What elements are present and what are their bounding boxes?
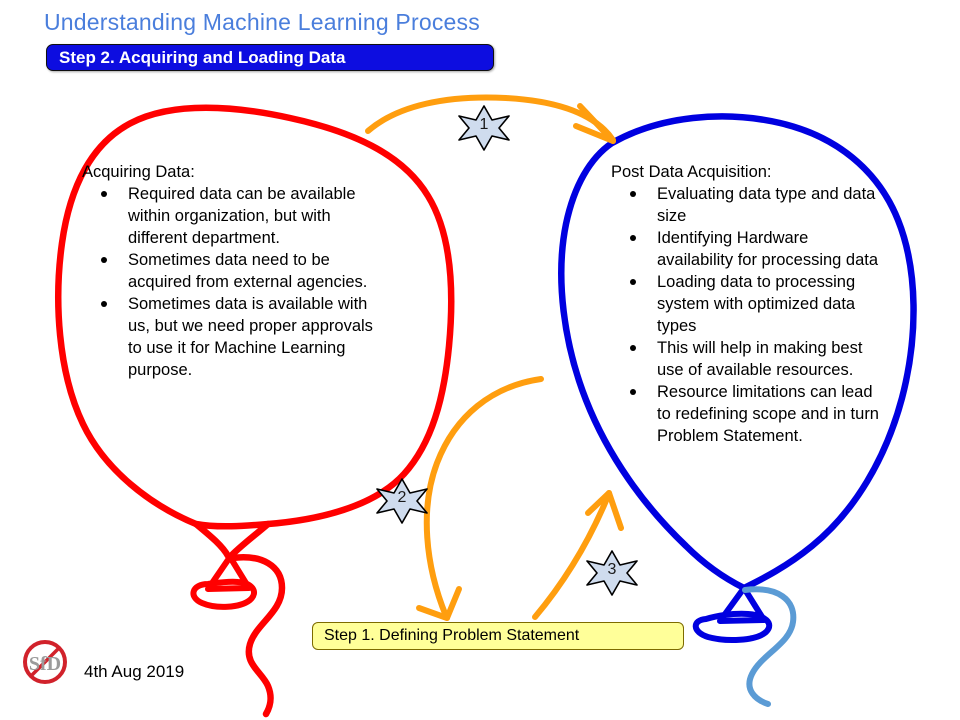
list-item-label: Resource limitations can lead to redefin… bbox=[657, 383, 879, 445]
bullet-icon bbox=[101, 257, 107, 263]
list-item: Identifying Hardware availability for pr… bbox=[611, 227, 881, 271]
slide-canvas: Understanding Machine Learning Process S… bbox=[0, 0, 960, 720]
list-item-label: Evaluating data type and data size bbox=[657, 185, 875, 225]
list-item: Evaluating data type and data size bbox=[611, 183, 881, 227]
list-item-label: Sometimes data is available with us, but… bbox=[128, 295, 373, 379]
logo-icon: SfD bbox=[22, 639, 68, 685]
right-balloon-bullet-list: Evaluating data type and data size Ident… bbox=[611, 183, 881, 447]
bullet-icon bbox=[630, 191, 636, 197]
step1-box-label: Step 1. Defining Problem Statement bbox=[324, 627, 579, 645]
list-item-label: Sometimes data need to be acquired from … bbox=[128, 251, 367, 291]
list-item: Resource limitations can lead to redefin… bbox=[611, 381, 881, 447]
list-item-label: This will help in making best use of ava… bbox=[657, 339, 862, 379]
arrow-badge-3: 3 bbox=[584, 548, 640, 598]
bullet-icon bbox=[630, 279, 636, 285]
list-item: This will help in making best use of ava… bbox=[611, 337, 881, 381]
footer-date: 4th Aug 2019 bbox=[84, 662, 184, 682]
bullet-icon bbox=[101, 191, 107, 197]
list-item-label: Loading data to processing system with o… bbox=[657, 273, 855, 335]
page-title: Understanding Machine Learning Process bbox=[44, 9, 480, 36]
bullet-icon bbox=[630, 389, 636, 395]
list-item-label: Identifying Hardware availability for pr… bbox=[657, 229, 878, 269]
arrow-badge-label: 2 bbox=[374, 489, 430, 507]
bullet-icon bbox=[630, 345, 636, 351]
left-balloon-text: Acquiring Data: Required data can be ava… bbox=[82, 161, 382, 381]
step-banner-label: Step 2. Acquiring and Loading Data bbox=[59, 48, 346, 68]
arrow-badge-1: 1 bbox=[456, 103, 512, 153]
list-item: Sometimes data need to be acquired from … bbox=[82, 249, 382, 293]
list-item: Required data can be available within or… bbox=[82, 183, 382, 249]
list-item: Loading data to processing system with o… bbox=[611, 271, 881, 337]
list-item-label: Required data can be available within or… bbox=[128, 185, 356, 247]
left-balloon-heading: Acquiring Data: bbox=[82, 161, 382, 183]
svg-text:SfD: SfD bbox=[29, 653, 61, 675]
arrow-2 bbox=[419, 379, 541, 618]
arrow-badge-label: 3 bbox=[584, 561, 640, 579]
bullet-icon bbox=[630, 235, 636, 241]
right-balloon-text: Post Data Acquisition: Evaluating data t… bbox=[611, 161, 881, 447]
right-balloon-heading: Post Data Acquisition: bbox=[611, 161, 881, 183]
step1-box[interactable]: Step 1. Defining Problem Statement bbox=[312, 622, 684, 650]
step-banner: Step 2. Acquiring and Loading Data bbox=[46, 44, 494, 71]
brand-logo-icon: SfD bbox=[22, 639, 68, 685]
left-balloon-bullet-list: Required data can be available within or… bbox=[82, 183, 382, 381]
arrow-badge-label: 1 bbox=[456, 116, 512, 134]
bullet-icon bbox=[101, 301, 107, 307]
arrow-badge-2: 2 bbox=[374, 476, 430, 526]
list-item: Sometimes data is available with us, but… bbox=[82, 293, 382, 381]
